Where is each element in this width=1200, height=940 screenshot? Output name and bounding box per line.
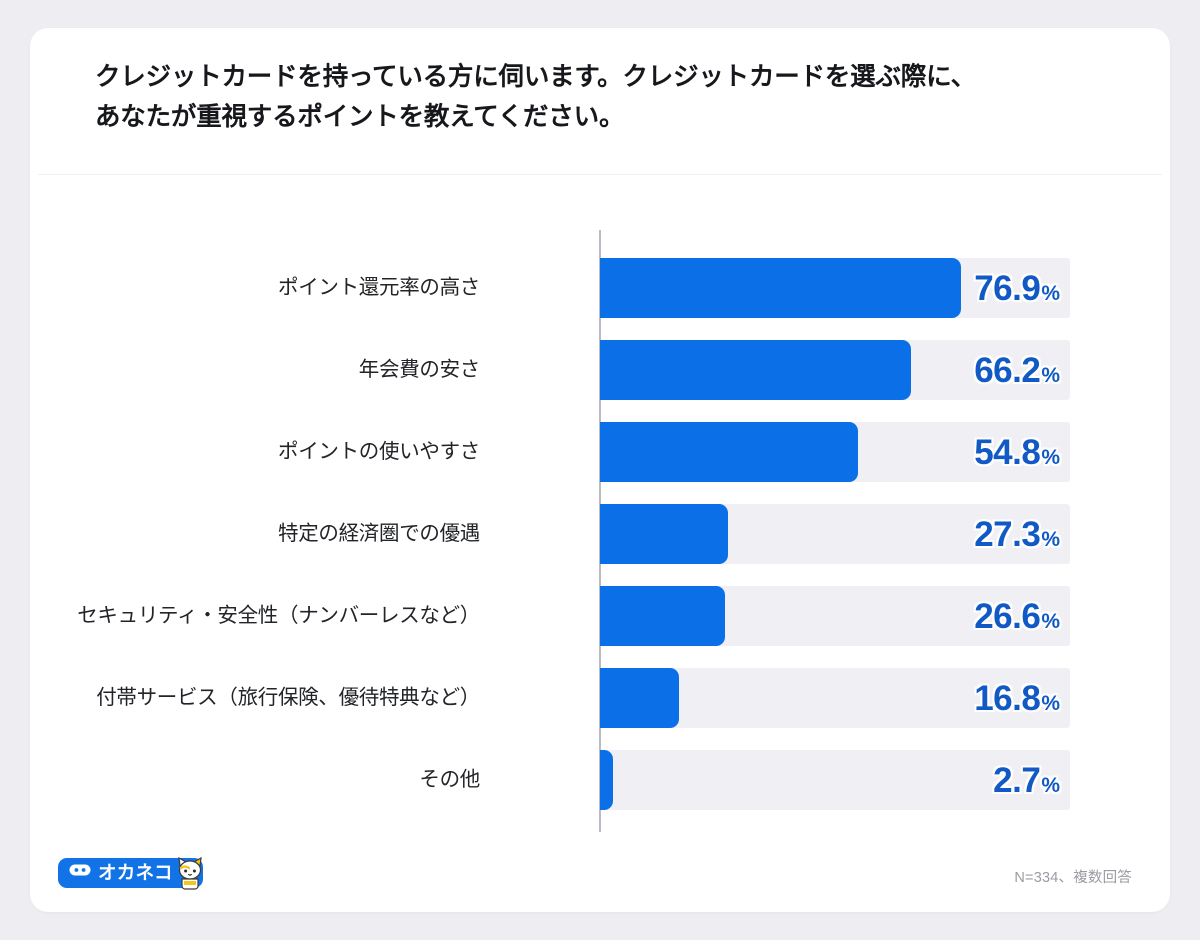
bar-value-number: 66.2 <box>974 351 1040 390</box>
bar-track: 2.7% <box>600 750 1070 810</box>
bar-chart: ポイント還元率の高さ76.9%年会費の安さ66.2%ポイントの使いやすさ54.8… <box>30 188 1170 848</box>
bar-row: 特定の経済圏での優遇27.3% <box>30 504 1170 564</box>
percent-sign: % <box>1041 446 1060 469</box>
bar-value-number: 54.8 <box>974 433 1040 472</box>
title-divider <box>38 174 1162 175</box>
bar-category-label: 特定の経済圏での優遇 <box>40 504 480 564</box>
bar-track: 66.2% <box>600 340 1070 400</box>
bar <box>600 750 613 810</box>
speech-bubble-icon <box>69 864 91 882</box>
page-title-line-2: あなたが重視するポイントを教えてください。 <box>95 98 1115 138</box>
bar <box>600 586 725 646</box>
bar-value-label: 66.2% <box>974 340 1060 400</box>
logo-label: オカネコ <box>98 864 173 883</box>
bar-value-label: 26.6% <box>974 586 1060 646</box>
bar-category-label: 年会費の安さ <box>40 340 480 400</box>
page-title-line-1: クレジットカードを持っている方に伺います。クレジットカードを選ぶ際に、 <box>95 58 1115 98</box>
bar <box>600 258 961 318</box>
bar <box>600 340 911 400</box>
bar-value-label: 27.3% <box>974 504 1060 564</box>
percent-sign: % <box>1041 774 1060 797</box>
percent-sign: % <box>1041 692 1060 715</box>
sample-size-note: N=334、複数回答 <box>1014 866 1132 887</box>
bar-category-label: ポイントの使いやすさ <box>40 422 480 482</box>
bar-track: 27.3% <box>600 504 1070 564</box>
bar-track: 26.6% <box>600 586 1070 646</box>
bar-row: その他2.7% <box>30 750 1170 810</box>
cat-mascot-icon <box>170 853 210 898</box>
bar <box>600 504 728 564</box>
okaneko-logo[interactable]: オカネコ <box>58 858 203 888</box>
bar-row: セキュリティ・安全性（ナンバーレスなど）26.6% <box>30 586 1170 646</box>
bar <box>600 422 858 482</box>
percent-sign: % <box>1041 528 1060 551</box>
bar-category-label: セキュリティ・安全性（ナンバーレスなど） <box>40 586 480 646</box>
bar <box>600 668 679 728</box>
percent-sign: % <box>1041 610 1060 633</box>
bar-track: 76.9% <box>600 258 1070 318</box>
bar-row: 年会費の安さ66.2% <box>30 340 1170 400</box>
bar-category-label: 付帯サービス（旅行保険、優待特典など） <box>40 668 480 728</box>
bar-value-number: 27.3 <box>974 515 1040 554</box>
bar-value-label: 2.7% <box>993 750 1060 810</box>
bar-value-number: 26.6 <box>974 597 1040 636</box>
bar-value-label: 76.9% <box>974 258 1060 318</box>
bar-row: 付帯サービス（旅行保険、優待特典など）16.8% <box>30 668 1170 728</box>
bar-value-number: 2.7 <box>993 761 1040 800</box>
bar-category-label: その他 <box>40 750 480 810</box>
page-title: クレジットカードを持っている方に伺います。クレジットカードを選ぶ際に、 あなたが… <box>95 58 1115 137</box>
bar-row: ポイントの使いやすさ54.8% <box>30 422 1170 482</box>
bar-row: ポイント還元率の高さ76.9% <box>30 258 1170 318</box>
bar-value-number: 16.8 <box>974 679 1040 718</box>
bar-category-label: ポイント還元率の高さ <box>40 258 480 318</box>
bar-value-number: 76.9 <box>974 269 1040 308</box>
bar-value-label: 16.8% <box>974 668 1060 728</box>
bar-value-label: 54.8% <box>974 422 1060 482</box>
percent-sign: % <box>1041 282 1060 305</box>
chart-card: クレジットカードを持っている方に伺います。クレジットカードを選ぶ際に、 あなたが… <box>30 28 1170 912</box>
percent-sign: % <box>1041 364 1060 387</box>
bar-track: 16.8% <box>600 668 1070 728</box>
bar-track: 54.8% <box>600 422 1070 482</box>
